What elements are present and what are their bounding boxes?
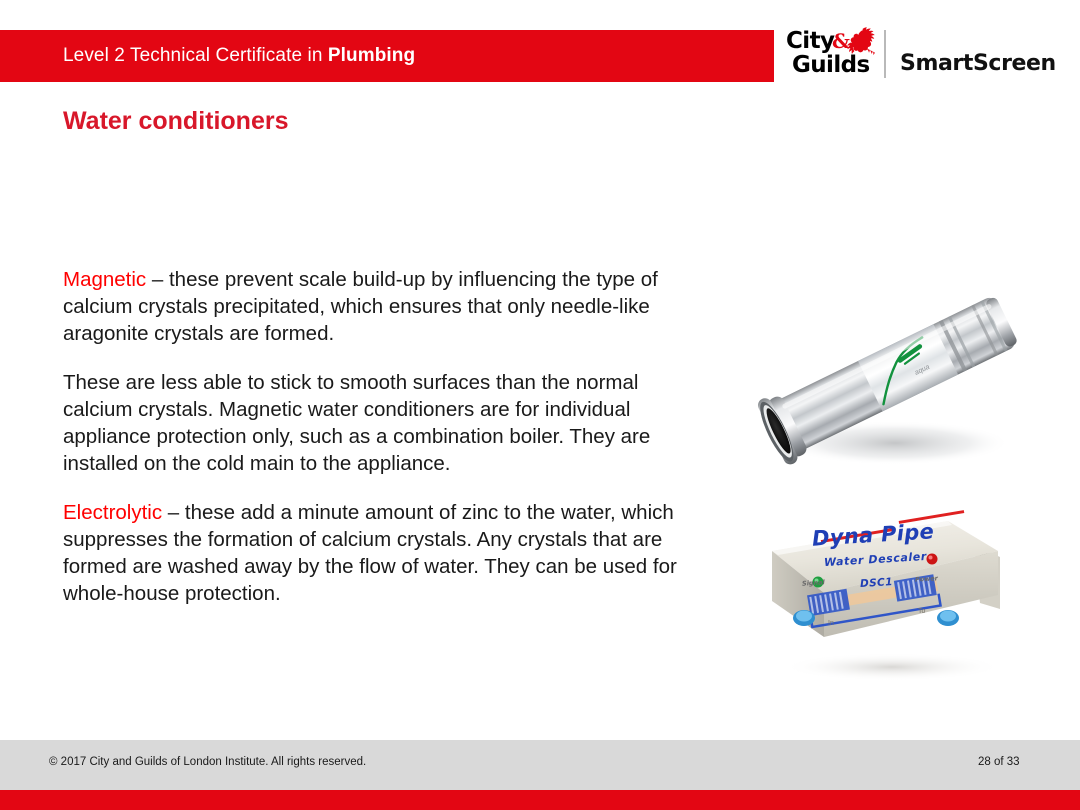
keyword-magnetic: Magnetic (63, 268, 146, 291)
svg-text:In: In (828, 620, 834, 627)
descaler-image: In To Dyna Pipe Water Descaler DSC1 Sign… (752, 505, 1042, 685)
footer-page-number: 28 of 33 (978, 756, 1020, 768)
paragraph-electrolytic: Electrolytic – these add a minute amount… (63, 499, 688, 607)
magnetic-conditioner-image: aqua (745, 268, 1045, 483)
course-title-prefix: Level 2 Technical Certificate in (63, 45, 328, 66)
descaler-drawing: In To (752, 505, 1042, 685)
paragraph-crystals-text: These are less able to stick to smooth s… (63, 371, 650, 475)
smartscreen-wordmark: SmartScreen (900, 51, 1056, 76)
paragraph-magnetic-text: – these prevent scale build-up by influe… (63, 268, 658, 345)
logo-divider (884, 30, 886, 78)
logo-line-guilds: Guilds (792, 53, 878, 77)
paragraph-crystals: These are less able to stick to smooth s… (63, 369, 688, 477)
footer-red-bar (0, 790, 1080, 810)
svg-text:To: To (918, 608, 926, 615)
footer-copyright: © 2017 City and Guilds of London Institu… (49, 756, 366, 768)
paragraph-magnetic: Magnetic – these prevent scale build-up … (63, 266, 688, 347)
city-and-guilds-logo: City Guilds & (786, 28, 878, 80)
page-title: Water conditioners (63, 107, 289, 136)
lion-icon (842, 26, 878, 56)
slide-body: Magnetic – these prevent scale build-up … (63, 266, 688, 607)
course-title-subject: Plumbing (328, 45, 415, 66)
course-title: Level 2 Technical Certificate in Plumbin… (63, 45, 415, 67)
brand-logo-block: City Guilds & SmartScreen (786, 28, 1066, 86)
keyword-electrolytic: Electrolytic (63, 501, 162, 524)
